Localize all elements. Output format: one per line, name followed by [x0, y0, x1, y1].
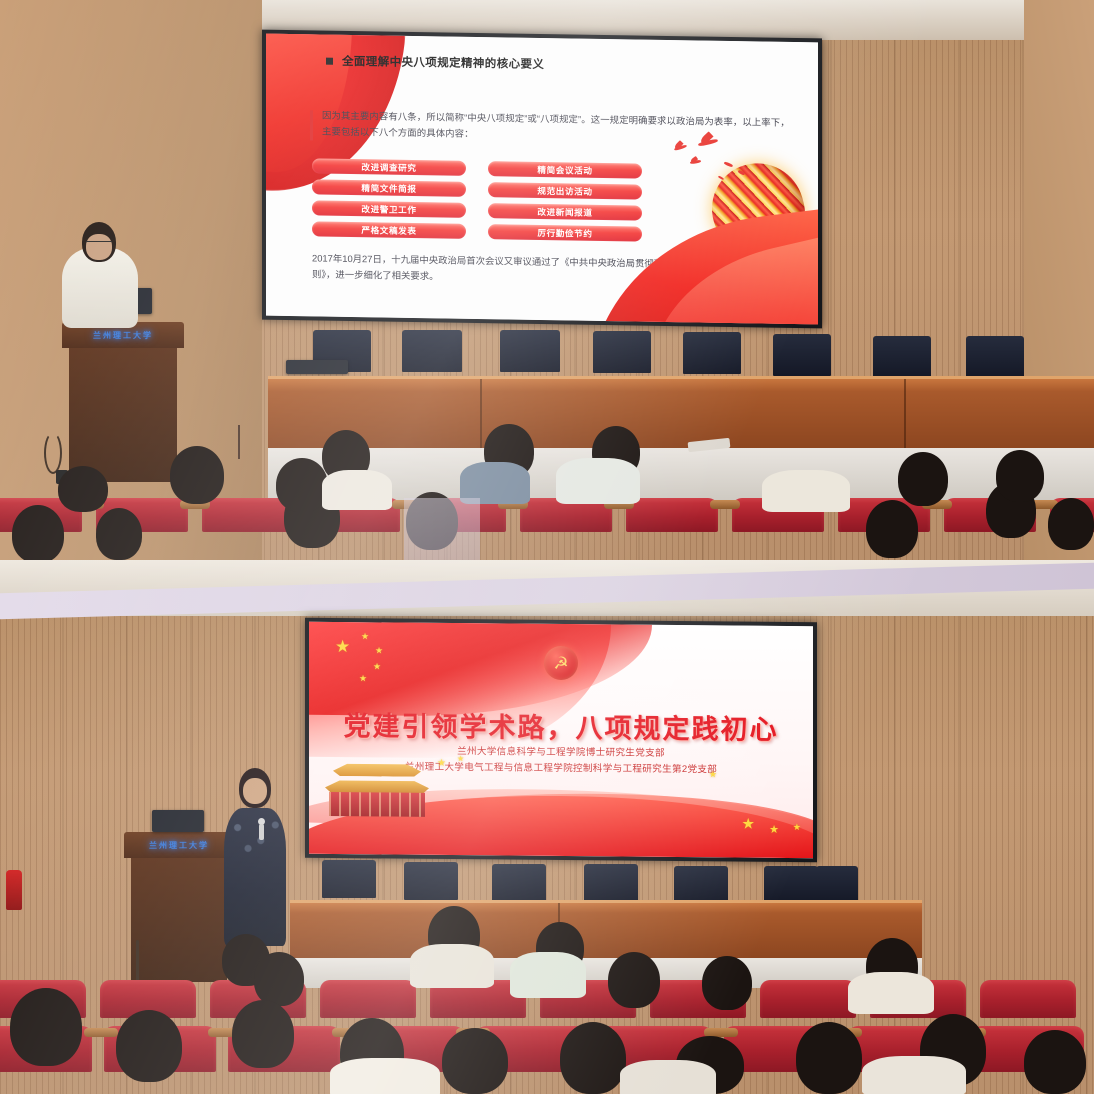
slide-surface-bottom: ★ ★ ★ ★ ★ ☭ 党建引领学术路，八项规定践初心 兰州大学信息科学与工程学… — [309, 622, 813, 858]
gold-star-icon: ★ — [742, 817, 755, 832]
gate-upper-roof — [333, 762, 421, 777]
tiananmen-gate-icon — [323, 762, 431, 817]
audience-head — [116, 1010, 182, 1082]
audience-torso — [410, 944, 494, 988]
regulation-tag: 改进警卫工作 — [312, 200, 466, 217]
table-seam — [904, 379, 906, 448]
regulation-tag: 改进调查研究 — [312, 158, 466, 175]
stage-chair — [674, 866, 728, 904]
eight-regulations-tag-grid: 改进调查研究 精简会议活动 精简文件简报 规范出访活动 改进警卫工作 改进新闻报… — [312, 158, 642, 241]
slide-title: 全面理解中央八项规定精神的核心要义 — [342, 53, 544, 72]
hammer-sickle-icon: ☭ — [553, 654, 568, 671]
stage-chair — [593, 331, 651, 373]
led-screen-bottom: ★ ★ ★ ★ ★ ☭ 党建引领学术路，八项规定践初心 兰州大学信息科学与工程学… — [305, 618, 817, 862]
auditorium-room-bottom: ★ ★ ★ ★ ★ ☭ 党建引领学术路，八项规定践初心 兰州大学信息科学与工程学… — [0, 560, 1094, 1094]
party-emblem-icon: ☭ — [544, 646, 578, 680]
audience-head — [276, 458, 328, 512]
stage-chair — [492, 864, 546, 902]
podium-top: 兰州理工大学 — [62, 322, 184, 482]
audience-head — [442, 1028, 508, 1094]
podium-laptop — [152, 810, 204, 832]
gold-star-icon: ★ — [769, 825, 779, 836]
audience-torso — [620, 1060, 716, 1094]
audience-head — [58, 466, 108, 512]
podium-bottom: 兰州理工大学 — [124, 832, 234, 982]
audience-head — [898, 452, 948, 506]
handheld-microphone-body — [259, 824, 264, 840]
audience-head — [254, 952, 304, 1006]
audience-torso — [330, 1058, 440, 1094]
stage-chair — [816, 866, 858, 904]
stage-chair — [584, 864, 638, 902]
podium-body — [131, 858, 228, 982]
paragraph-accent-bar — [310, 110, 313, 140]
ceiling-wire — [238, 425, 240, 459]
audience-torso — [510, 952, 586, 998]
upper-photo-panel: 全面理解中央八项规定精神的核心要义 因为其主要内容有八条，所以简称“中央八项规定… — [0, 0, 1094, 560]
stage-chair — [966, 336, 1024, 378]
stage-chair — [683, 332, 741, 374]
podium-header: 兰州理工大学 — [124, 832, 234, 858]
stage-chair — [764, 866, 818, 904]
gold-star-icon: ★ — [793, 823, 801, 832]
regulation-tag: 严格文稿发表 — [312, 221, 466, 238]
speaker-dress-pattern — [226, 812, 284, 864]
podium-led-text: 兰州理工大学 — [149, 840, 209, 851]
gold-star-icon: ★ — [457, 755, 464, 763]
flag-star-icon: ★ — [373, 662, 381, 671]
stage-conference-table — [290, 900, 922, 958]
square-bullet-icon — [326, 58, 333, 65]
audience-torso — [322, 470, 392, 510]
audience-torso — [862, 1056, 966, 1094]
flag-star-icon: ★ — [335, 638, 350, 655]
flag-star-icon: ★ — [359, 674, 367, 683]
audience-torso — [556, 458, 640, 504]
audience-head — [608, 952, 660, 1008]
table-seam — [480, 379, 482, 448]
audience-head — [12, 505, 64, 560]
audience-head — [1024, 1030, 1086, 1094]
audience-head — [232, 1000, 294, 1068]
dove-icon — [724, 161, 733, 167]
stage-chair — [500, 330, 560, 372]
regulation-tag: 厉行勤俭节约 — [488, 224, 642, 241]
stage-chair — [873, 336, 931, 378]
wall-cable — [44, 432, 62, 474]
audience-head — [702, 956, 752, 1010]
dove-icon — [718, 175, 724, 180]
speaker-face — [243, 778, 267, 804]
auditorium-room-top: 全面理解中央八项规定精神的核心要义 因为其主要内容有八条，所以简称“中央八项规定… — [0, 0, 1094, 560]
slide-one: 全面理解中央八项规定精神的核心要义 因为其主要内容有八条，所以简称“中央八项规定… — [266, 34, 818, 325]
stage-conference-table — [268, 376, 1094, 448]
regulation-tag: 精简文件简报 — [312, 179, 466, 196]
dove-icon — [690, 160, 701, 165]
gold-star-icon: ★ — [437, 759, 446, 769]
audience-head — [796, 1022, 862, 1094]
laptop-on-stage-table — [286, 360, 348, 374]
flag-star-icon: ★ — [375, 646, 383, 655]
stage-chair — [773, 334, 831, 376]
podium-body — [69, 348, 176, 482]
auditorium-seat — [320, 980, 416, 1018]
auditorium-seat — [626, 498, 718, 532]
auditorium-seat — [980, 980, 1076, 1018]
dove-icon — [674, 144, 687, 151]
seat-armrest — [710, 500, 740, 509]
regulation-tag: 改进新闻报道 — [488, 203, 642, 220]
regulation-tag: 精简会议活动 — [488, 161, 642, 178]
audience-torso — [848, 972, 934, 1014]
podium-led-text: 兰州理工大学 — [93, 330, 153, 341]
flag-star-icon: ★ — [361, 632, 369, 641]
slide-surface-top: 全面理解中央八项规定精神的核心要义 因为其主要内容有八条，所以简称“中央八项规定… — [266, 34, 818, 325]
stage-chair — [322, 860, 376, 898]
audience-torso — [762, 470, 850, 512]
led-screen-top: 全面理解中央八项规定精神的核心要义 因为其主要内容有八条，所以简称“中央八项规定… — [262, 30, 822, 329]
audience-head — [170, 446, 224, 504]
stage-chair — [402, 330, 462, 372]
speaker-glasses-icon — [86, 241, 112, 246]
audience-head — [96, 508, 142, 560]
audience-head — [866, 500, 918, 558]
dove-icon — [698, 138, 718, 146]
fire-extinguisher — [6, 870, 22, 910]
lower-photo-panel: ★ ★ ★ ★ ★ ☭ 党建引领学术路，八项规定践初心 兰州大学信息科学与工程学… — [0, 560, 1094, 1094]
regulation-tag: 规范出访活动 — [488, 182, 642, 199]
screenshot-page: 全面理解中央八项规定精神的核心要义 因为其主要内容有八条，所以简称“中央八项规定… — [0, 0, 1094, 1094]
auditorium-seat — [760, 980, 856, 1018]
speaker-face — [86, 234, 112, 260]
seat-armrest — [84, 1028, 118, 1037]
slide-two: ★ ★ ★ ★ ★ ☭ 党建引领学术路，八项规定践初心 兰州大学信息科学与工程学… — [309, 622, 813, 858]
audience-head — [1048, 498, 1094, 550]
audience-head — [10, 988, 82, 1066]
audience-head — [996, 450, 1044, 502]
gate-columns — [329, 792, 425, 817]
center-aisle — [404, 498, 480, 560]
slide-two-title: 党建引领学术路，八项规定践初心 — [309, 704, 813, 747]
stage-chair — [404, 862, 458, 900]
audience-head — [560, 1022, 626, 1094]
gold-star-icon: ★ — [709, 770, 717, 779]
